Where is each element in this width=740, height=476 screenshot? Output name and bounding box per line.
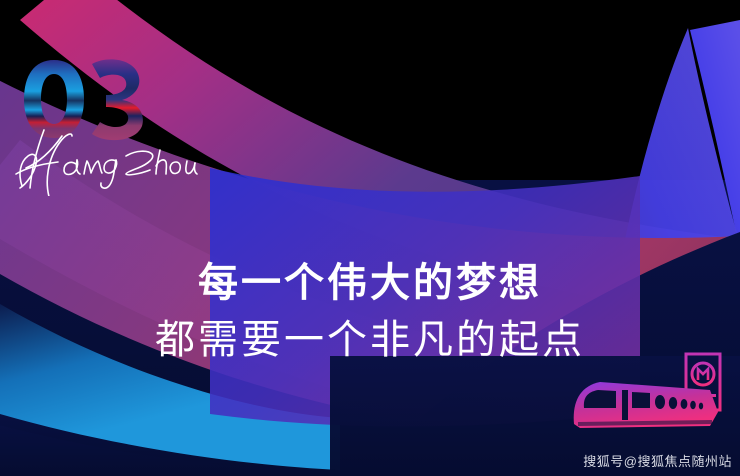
headline-group: 每一个伟大的梦想 都需要一个非凡的起点 [0,258,740,366]
watermark-text: 搜狐号@搜狐焦点随州站 [583,451,732,470]
metro-train [574,382,718,428]
train-door-gap [622,390,628,420]
metro-sign-m-glyph [698,369,708,380]
logo-script-hangzhou [14,116,224,196]
poster-canvas: 每一个伟大的梦想 都需要一个非凡的起点 搜 [0,0,740,476]
headline-line-1: 每一个伟大的梦想 [0,258,740,309]
metro-artwork [560,352,740,444]
logo-group [14,56,224,206]
